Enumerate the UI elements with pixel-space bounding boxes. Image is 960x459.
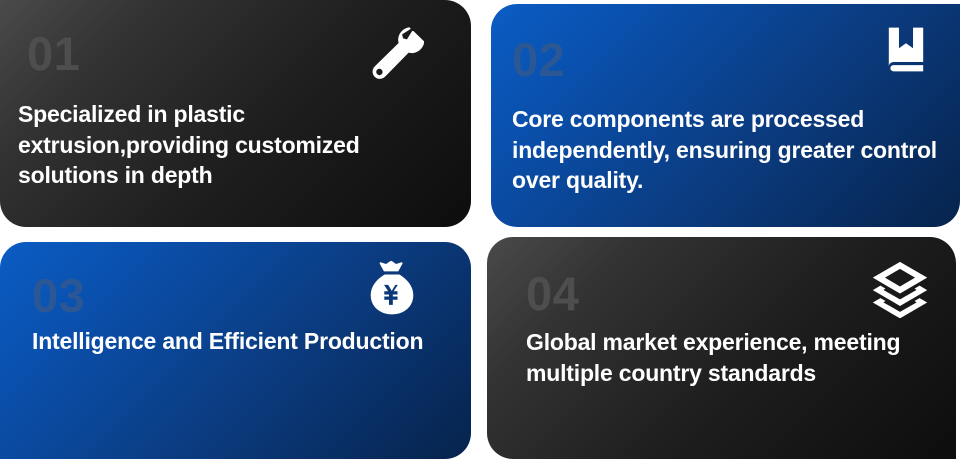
feature-card-01[interactable]: 01 Specialized in plastic extrusion,prov… [0, 0, 471, 227]
book-bookmark-icon [881, 26, 931, 76]
card-number-03: 03 [32, 272, 85, 319]
card-text-02: Core components are processed independen… [512, 104, 957, 196]
feature-card-grid: 01 Specialized in plastic extrusion,prov… [0, 0, 960, 459]
feature-card-04[interactable]: 04 Global market experience, meeting mul… [487, 237, 956, 459]
money-bag-yen-icon [363, 260, 421, 318]
card-number-02: 02 [512, 36, 565, 83]
card-text-03: Intelligence and Efficient Production [32, 326, 452, 357]
feature-card-02[interactable]: 02 Core components are processed indepen… [491, 4, 960, 227]
card-text-01: Specialized in plastic extrusion,providi… [18, 99, 448, 191]
card-number-01: 01 [27, 30, 80, 77]
feature-card-03[interactable]: 03 Intelligence and Efficient Production [0, 242, 471, 459]
wrench-icon [366, 25, 424, 83]
card-number-04: 04 [526, 270, 579, 317]
layers-stack-icon [871, 260, 929, 318]
card-text-04: Global market experience, meeting multip… [526, 327, 936, 388]
